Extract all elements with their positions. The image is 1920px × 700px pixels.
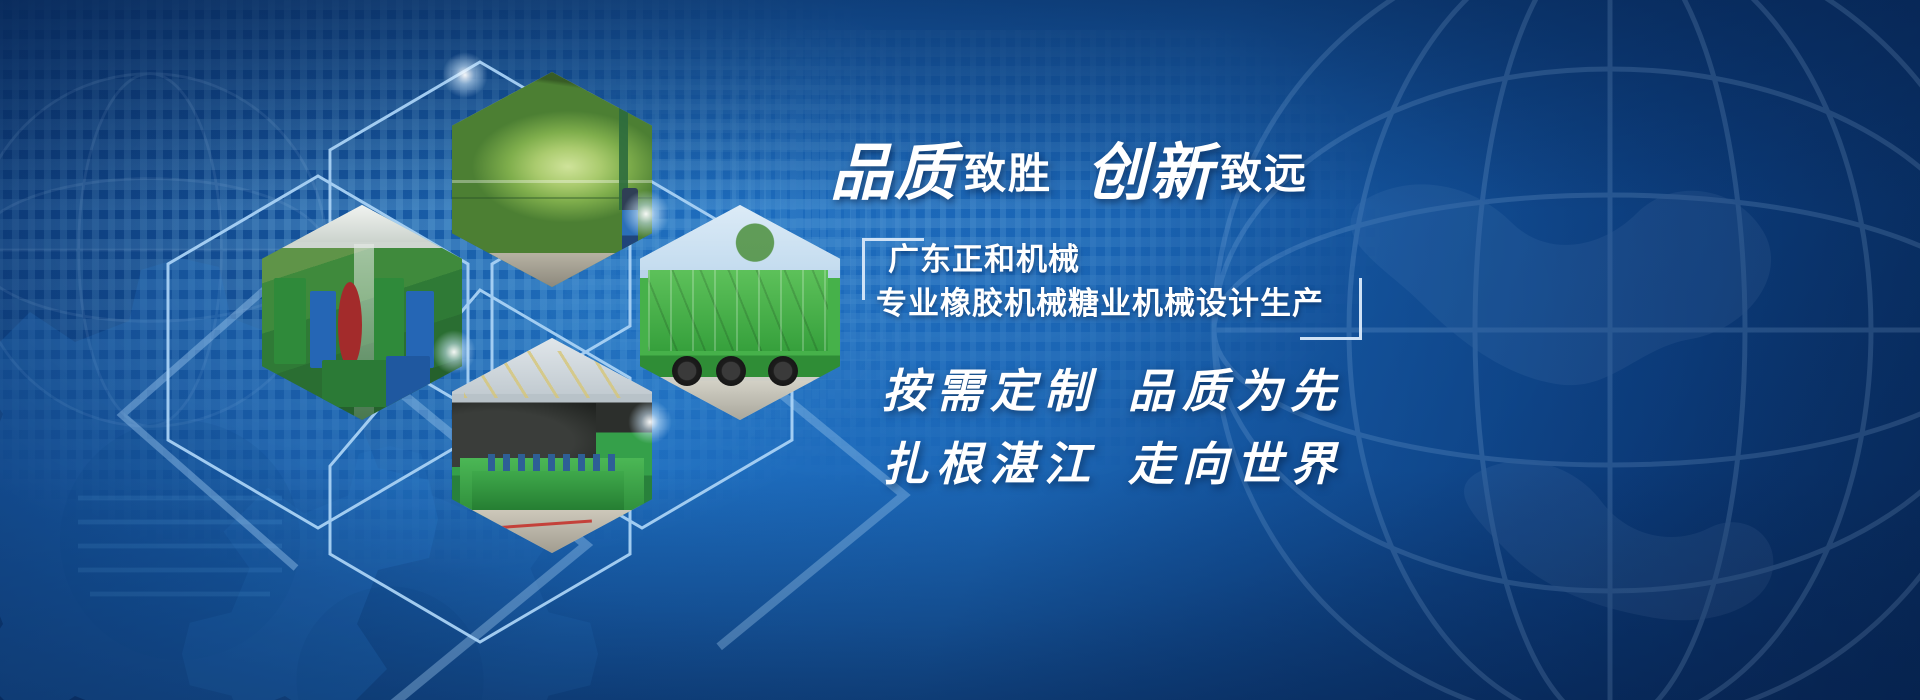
headline: 品质致胜创新致远 (830, 122, 1308, 212)
banner-copy: 品质致胜创新致远 广东正和机械 专业橡胶机械糖业机械设计生产 按需定制品质为先 … (830, 0, 1830, 700)
headline-part2-small: 致远 (1220, 149, 1308, 198)
bracket-top-left-icon (862, 238, 936, 310)
slogan-row-1: 按需定制品质为先 (882, 355, 1442, 428)
sparkle-icon (622, 190, 670, 238)
sparkle-icon (442, 52, 488, 98)
company-name: 广东正和机械 (888, 238, 1330, 282)
slogan-1-left: 按需定制 (882, 364, 1098, 418)
slogan-1-right: 品质为先 (1128, 364, 1344, 418)
slogan-2-left: 扎根湛江 (882, 437, 1098, 491)
sparkle-icon (628, 400, 672, 444)
company-block: 广东正和机械 专业橡胶机械糖业机械设计生产 (850, 238, 1330, 326)
slogan-2-right: 走向世界 (1128, 437, 1344, 491)
headline-part1-small: 致胜 (964, 149, 1052, 198)
company-description: 专业橡胶机械糖业机械设计生产 (876, 282, 1330, 326)
slogan-block: 按需定制品质为先 扎根湛江走向世界 (882, 355, 1442, 500)
sparkle-icon (432, 330, 476, 374)
bracket-bottom-right-icon (1288, 268, 1362, 340)
headline-part2-big: 创新 (1086, 136, 1214, 209)
headline-part1-big: 品质 (830, 136, 958, 209)
hexagon-photo-collage (0, 0, 900, 700)
slogan-row-2: 扎根湛江走向世界 (882, 428, 1442, 501)
promo-banner: 品质致胜创新致远 广东正和机械 专业橡胶机械糖业机械设计生产 按需定制品质为先 … (0, 0, 1920, 700)
